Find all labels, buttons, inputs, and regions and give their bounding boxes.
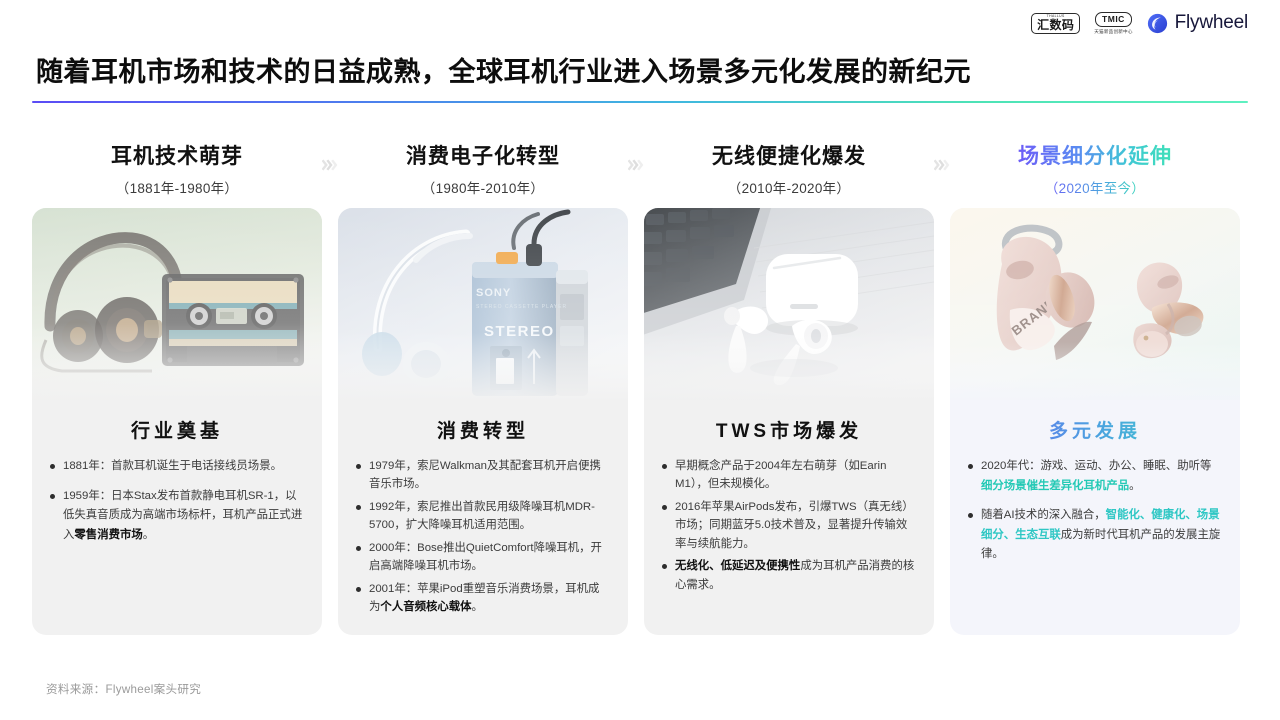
bullet-dot-icon — [662, 564, 667, 569]
chevron-right-icon — [628, 154, 644, 176]
card-title: 消费转型 — [338, 416, 628, 443]
flywheel-logo: Flywheel — [1147, 12, 1248, 34]
card-bullet-list: 2020年代：游戏、运动、办公、睡眠、助听等细分场景催生差异化耳机产品。 随着A… — [950, 457, 1240, 575]
bullet-dot-icon — [356, 587, 361, 592]
bullet-text: 2020年代：游戏、运动、办公、睡眠、助听等细分场景催生差异化耳机产品。 — [981, 457, 1222, 496]
flywheel-wordmark: Flywheel — [1175, 12, 1248, 34]
card-image-open-ear-brand-earphones: BRAND — [950, 208, 1240, 400]
bullet-dot-icon — [968, 464, 973, 469]
tmic-logo-wordmark: TMIC — [1095, 12, 1132, 27]
list-item: 2000年：Bose推出QuietComfort降噪耳机，开启高端降噪耳机市场。 — [356, 539, 610, 576]
phase-title: 场景细分化延伸 — [1018, 140, 1172, 170]
bullet-dot-icon — [356, 464, 361, 469]
timeline-card-1[interactable]: 行业奠基 1881年：首款耳机诞生于电话接线员场景。 1959年：日本Stax发… — [32, 208, 322, 635]
bullet-dot-icon — [50, 464, 55, 469]
bullet-text: 2016年苹果AirPods发布，引爆TWS（真无线）市场；同期蓝牙5.0技术普… — [675, 498, 916, 553]
list-item: 2001年：苹果iPod重塑音乐消费场景，耳机成为个人音频核心载体。 — [356, 580, 610, 617]
slide-root: THALLUS 汇数码 TMIC 天猫新品创新中心 — [0, 0, 1280, 720]
list-item: 1959年：日本Stax发布首款静电耳机SR-1，以低失真音质成为高端市场标杆，… — [50, 487, 304, 546]
bullet-text: 随着AI技术的深入融合，智能化、健康化、场景细分、生态互联成为新时代耳机产品的发… — [981, 506, 1222, 565]
page-title: 随着耳机市场和技术的日益成熟，全球耳机行业进入场景多元化发展的新纪元 — [36, 50, 971, 89]
bullet-text: 2000年：Bose推出QuietComfort降噪耳机，开启高端降噪耳机市场。 — [369, 539, 610, 576]
list-item: 随着AI技术的深入融合，智能化、健康化、场景细分、生态互联成为新时代耳机产品的发… — [968, 506, 1222, 565]
bullet-dot-icon — [662, 505, 667, 510]
list-item: 2016年苹果AirPods发布，引爆TWS（真无线）市场；同期蓝牙5.0技术普… — [662, 498, 916, 553]
phase-range: （2010年-2020年） — [728, 177, 850, 197]
huishuma-logo-wordmark: 汇数码 — [1037, 19, 1074, 31]
flywheel-mark-icon — [1147, 13, 1168, 34]
huishuma-logo: THALLUS 汇数码 — [1031, 13, 1080, 34]
chevron-right-icon — [934, 154, 950, 176]
phase-range: （2020年至今） — [1045, 177, 1145, 197]
card-bullet-list: 早期概念产品于2004年左右萌芽（如Earin M1），但未规模化。 2016年… — [644, 457, 934, 598]
phase-title: 无线便捷化爆发 — [712, 140, 866, 170]
bullet-text: 2001年：苹果iPod重塑音乐消费场景，耳机成为个人音频核心载体。 — [369, 580, 610, 617]
phase-header-2: 消费电子化转型 （1980年-2010年） — [338, 140, 628, 197]
bullet-text: 早期概念产品于2004年左右萌芽（如Earin M1），但未规模化。 — [675, 457, 916, 494]
bullet-dot-icon — [662, 464, 667, 469]
bullet-text: 1881年：首款耳机诞生于电话接线员场景。 — [63, 457, 304, 477]
list-item: 1881年：首款耳机诞生于电话接线员场景。 — [50, 457, 304, 477]
card-image-airpods-laptop — [644, 208, 934, 400]
bullet-text: 1979年，索尼Walkman及其配套耳机开启便携音乐市场。 — [369, 457, 610, 494]
bullet-dot-icon — [356, 546, 361, 551]
source-note: 资料来源：Flywheel案头研究 — [46, 681, 201, 697]
phase-header-4: 场景细分化延伸 （2020年至今） — [950, 140, 1240, 197]
huishuma-logo-tagline: THALLUS — [1047, 14, 1065, 18]
bullet-text: 1992年，索尼推出首款民用级降噪耳机MDR-5700，扩大降噪耳机适用范围。 — [369, 498, 610, 535]
phase-header-1: 耳机技术萌芽 （1881年-1980年） — [32, 140, 322, 197]
card-title: TWS市场爆发 — [644, 416, 934, 443]
list-item: 早期概念产品于2004年左右萌芽（如Earin M1），但未规模化。 — [662, 457, 916, 494]
list-item: 1979年，索尼Walkman及其配套耳机开启便携音乐市场。 — [356, 457, 610, 494]
card-title: 行业奠基 — [32, 416, 322, 443]
list-item: 1992年，索尼推出首款民用级降噪耳机MDR-5700，扩大降噪耳机适用范围。 — [356, 498, 610, 535]
bullet-dot-icon — [968, 513, 973, 518]
bullet-dot-icon — [50, 494, 55, 499]
card-image-vintage-headphones-cassette — [32, 208, 322, 400]
card-bullet-list: 1979年，索尼Walkman及其配套耳机开启便携音乐市场。 1992年，索尼推… — [338, 457, 628, 621]
bullet-text: 1959年：日本Stax发布首款静电耳机SR-1，以低失真音质成为高端市场标杆，… — [63, 487, 304, 546]
timeline-card-3[interactable]: TWS市场爆发 早期概念产品于2004年左右萌芽（如Earin M1），但未规模… — [644, 208, 934, 635]
timeline-card-row: 行业奠基 1881年：首款耳机诞生于电话接线员场景。 1959年：日本Stax发… — [32, 208, 1248, 635]
phase-range: （1881年-1980年） — [116, 177, 238, 197]
phase-title: 消费电子化转型 — [406, 140, 560, 170]
logo-bar: THALLUS 汇数码 TMIC 天猫新品创新中心 — [1031, 12, 1248, 35]
card-title: 多元发展 — [950, 416, 1240, 443]
tmic-logo-subtitle: 天猫新品创新中心 — [1094, 29, 1132, 35]
card-image-sony-walkman: SONY STEREO CASSETTE PLAYER STEREO — [338, 208, 628, 400]
tmic-logo: TMIC 天猫新品创新中心 — [1094, 12, 1132, 35]
timeline-card-4[interactable]: BRAND 多元发展 — [950, 208, 1240, 635]
card-bullet-list: 1881年：首款耳机诞生于电话接线员场景。 1959年：日本Stax发布首款静电… — [32, 457, 322, 555]
phase-header-row: 耳机技术萌芽 （1881年-1980年） 消费电子化转型 （1980年-2010… — [32, 140, 1248, 198]
bullet-text: 无线化、低延迟及便携性成为耳机产品消费的核心需求。 — [675, 557, 916, 594]
timeline-card-2[interactable]: SONY STEREO CASSETTE PLAYER STEREO 消费转型 … — [338, 208, 628, 635]
phase-range: （1980年-2010年） — [422, 177, 544, 197]
list-item: 2020年代：游戏、运动、办公、睡眠、助听等细分场景催生差异化耳机产品。 — [968, 457, 1222, 496]
chevron-right-icon — [322, 154, 338, 176]
title-divider — [32, 101, 1248, 103]
phase-header-3: 无线便捷化爆发 （2010年-2020年） — [644, 140, 934, 197]
bullet-dot-icon — [356, 505, 361, 510]
phase-title: 耳机技术萌芽 — [111, 140, 243, 170]
list-item: 无线化、低延迟及便携性成为耳机产品消费的核心需求。 — [662, 557, 916, 594]
